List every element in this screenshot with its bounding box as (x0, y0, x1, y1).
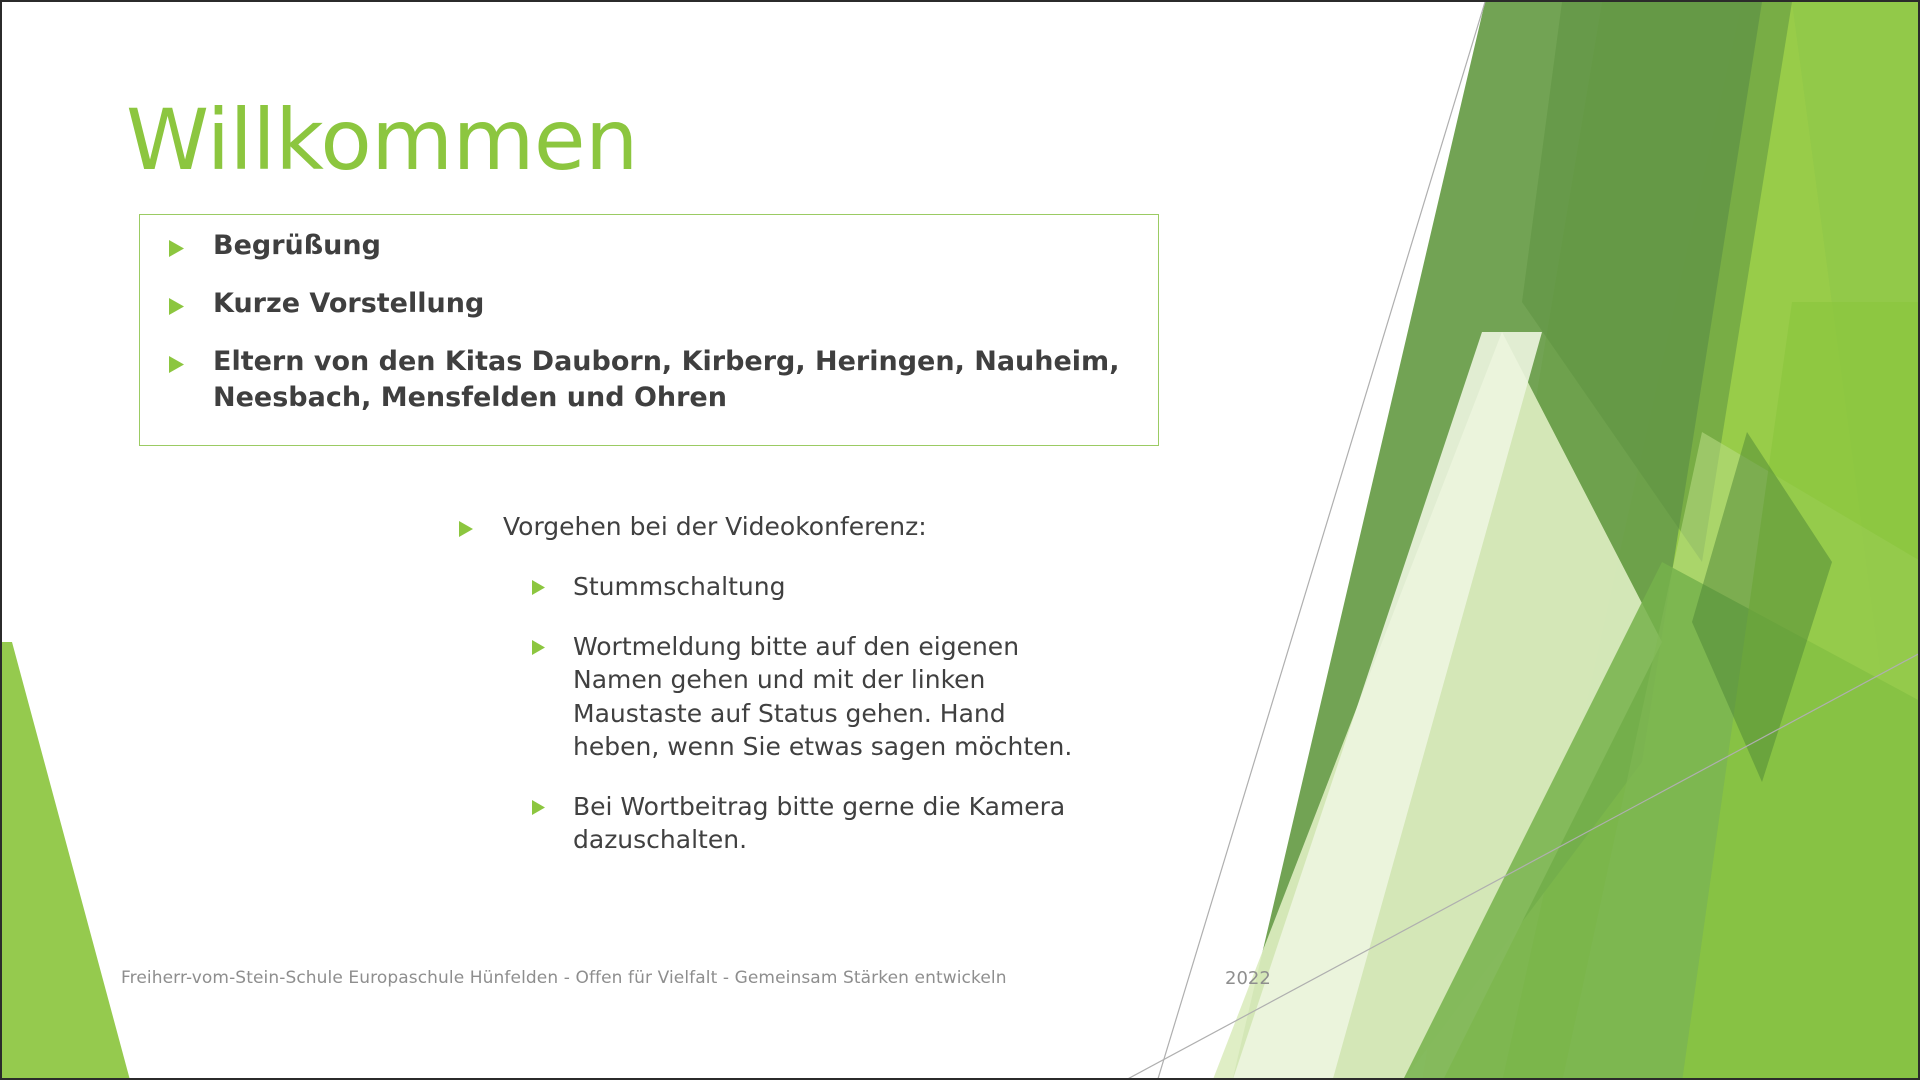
deco-shape-right-mid-2 (1682, 302, 1920, 1080)
triangle-right-icon (530, 799, 549, 816)
deco-shape-right-dark-1 (1232, 2, 1762, 1080)
deco-shape-right-pale-2 (1562, 432, 1920, 1080)
list-item-label: Kurze Vorstellung (213, 286, 484, 322)
triangle-right-icon (167, 297, 189, 316)
list-item-label: Begrüßung (213, 228, 381, 264)
triangle-right-icon (530, 639, 549, 656)
list-item: Wortmeldung bitte auf den eigenen Namen … (530, 630, 1157, 763)
list-item-label: Eltern von den Kitas Dauborn, Kirberg, H… (213, 344, 1141, 416)
deco-shape-right-bright-2 (1422, 2, 1920, 1080)
presentation-slide: Willkommen Begrüßung Kurze Vorstellung E… (0, 0, 1920, 1080)
deco-hairline-2 (1122, 652, 1920, 1080)
procedure-heading-row: Vorgehen bei der Videokonferenz: (457, 510, 1157, 544)
triangle-right-icon (457, 520, 477, 538)
list-item: Vorgehen bei der Videokonferenz: (457, 510, 1157, 544)
footer-school-line: Freiherr-vom-Stein-Schule Europaschule H… (121, 968, 1007, 988)
triangle-right-icon (530, 579, 549, 596)
procedure-sublist: Stummschaltung Wortmeldung bitte auf den… (530, 570, 1157, 857)
deco-shape-right-mid-1 (1402, 562, 1920, 1080)
list-item: Kurze Vorstellung (157, 286, 1141, 322)
list-item: Eltern von den Kitas Dauborn, Kirberg, H… (157, 344, 1141, 416)
list-item-label: Bei Wortbeitrag bitte gerne die Kamera d… (573, 790, 1093, 857)
slide-title: Willkommen (126, 98, 638, 182)
list-item-label: Stummschaltung (573, 570, 785, 603)
deco-shape-right-bright-1 (1502, 2, 1920, 1080)
footer-year: 2022 (1225, 968, 1271, 989)
list-item: Stummschaltung (530, 570, 1157, 603)
framed-list: Begrüßung Kurze Vorstellung Eltern von d… (139, 214, 1159, 446)
deco-shape-left-wedge (2, 642, 130, 1080)
triangle-right-icon (167, 355, 189, 374)
list-item: Begrüßung (157, 228, 1141, 264)
list-item-label: Wortmeldung bitte auf den eigenen Namen … (573, 630, 1093, 763)
deco-shape-right-palest (1232, 332, 1542, 1080)
procedure-block: Vorgehen bei der Videokonferenz: Stummsc… (457, 510, 1157, 857)
deco-shape-right-pale-1 (1212, 332, 1662, 1080)
deco-hairline-1 (1157, 2, 1485, 1080)
procedure-heading-label: Vorgehen bei der Videokonferenz: (503, 510, 927, 544)
list-item: Bei Wortbeitrag bitte gerne die Kamera d… (530, 790, 1157, 857)
triangle-right-icon (167, 239, 189, 258)
deco-shape-right-deepgreen (1692, 432, 1832, 782)
deco-shape-right-dark-2 (1522, 2, 1792, 562)
